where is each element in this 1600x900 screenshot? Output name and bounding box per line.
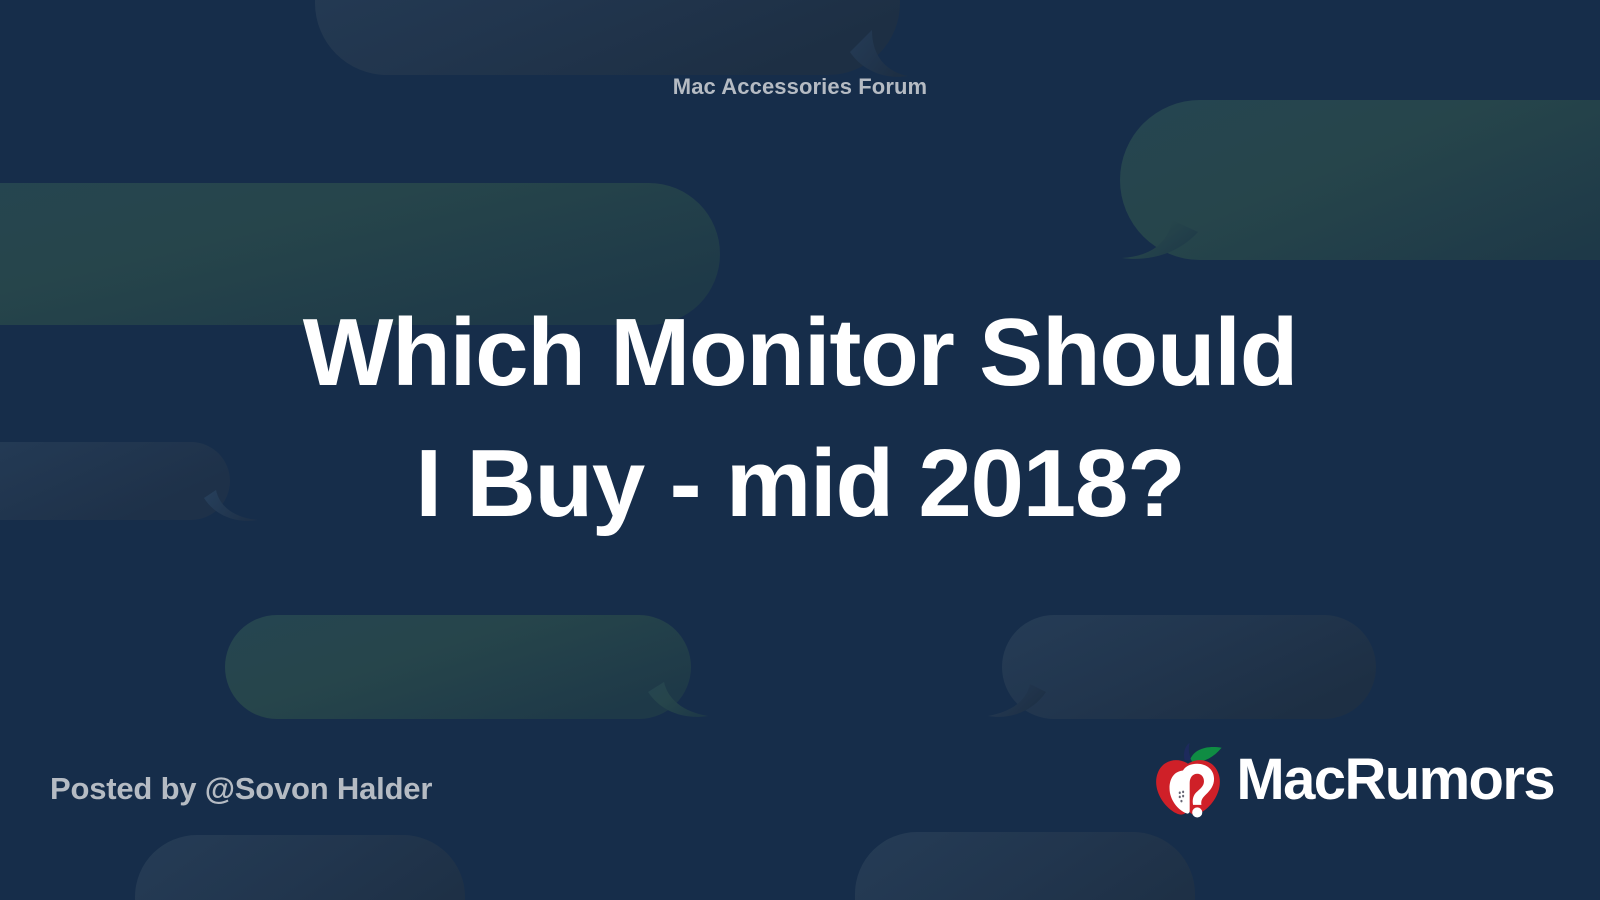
post-title-wrapper: Which Monitor Should I Buy - mid 2018? [100,288,1500,549]
page-title: Which Monitor Should I Buy - mid 2018? [100,288,1500,549]
post-byline: Posted by @Sovon Halder [50,770,432,807]
macrumors-wordmark: MacRumors [1236,751,1554,809]
forum-share-card: Mac Accessories Forum Which Monitor Shou… [0,0,1600,900]
forum-category-label: Mac Accessories Forum [0,74,1600,100]
macrumors-apple-question-mark-icon [1146,736,1230,820]
macrumors-brand-lockup: MacRumors [1146,736,1554,820]
